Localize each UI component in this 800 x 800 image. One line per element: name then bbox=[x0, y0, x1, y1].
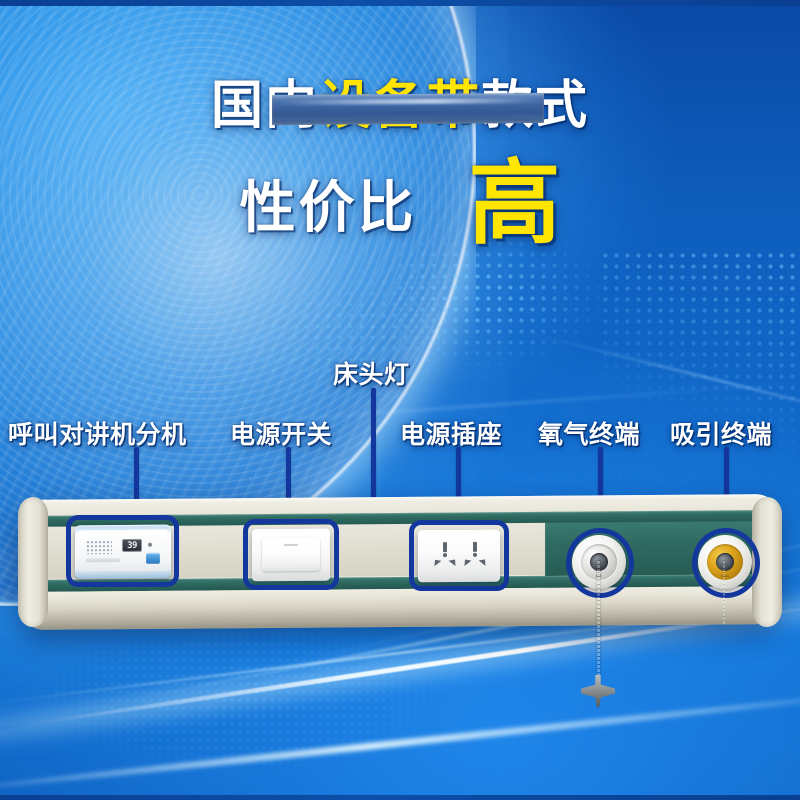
power-socket[interactable] bbox=[418, 530, 500, 583]
top-border-bar bbox=[0, 0, 800, 6]
suction-terminal-marking: VAC bbox=[698, 573, 752, 578]
intercom-faceplate: 39 bbox=[78, 530, 168, 572]
socket-outlet-left[interactable] bbox=[430, 542, 460, 570]
socket-outlet-right[interactable] bbox=[460, 542, 490, 570]
socket-slot-vertical-top bbox=[473, 542, 477, 552]
switch-marking bbox=[284, 544, 298, 546]
socket-slot-diagonal-right bbox=[448, 557, 458, 566]
intercom-call-button[interactable] bbox=[146, 553, 160, 564]
socket-slot-diagonal-left bbox=[431, 557, 441, 567]
suction-terminal[interactable]: VAC bbox=[698, 535, 752, 589]
intercom-unit[interactable]: 39 bbox=[75, 525, 171, 579]
power-switch[interactable] bbox=[252, 529, 330, 582]
product-banner: 国内设备带款式 性价比高 呼叫对讲机分机 电源开关 床头灯 电源插座 氧气终端 … bbox=[0, 0, 800, 800]
bhu-end-cap-right bbox=[752, 497, 782, 627]
socket-slot-round bbox=[473, 553, 477, 557]
socket-slot-diagonal-right bbox=[478, 557, 488, 566]
pull-cord[interactable] bbox=[597, 560, 600, 690]
socket-slot-round bbox=[443, 553, 447, 557]
intercom-display: 39 bbox=[122, 539, 142, 552]
intercom-label-slot bbox=[86, 558, 120, 562]
bedside-lamp[interactable] bbox=[272, 93, 544, 125]
intercom-led-indicator bbox=[148, 543, 152, 547]
suction-terminal-port[interactable] bbox=[716, 553, 734, 571]
socket-slot-diagonal-left bbox=[461, 557, 471, 567]
bhu-end-cap-left bbox=[18, 497, 48, 627]
lamp-highlight bbox=[280, 98, 536, 105]
switch-rocker[interactable] bbox=[262, 538, 320, 571]
socket-slot-vertical-top bbox=[443, 542, 447, 552]
halftone-dots-right bbox=[600, 250, 800, 460]
bottom-border-bar bbox=[0, 795, 800, 800]
bhu-bottom-rail bbox=[24, 586, 776, 625]
speaker-grille-icon bbox=[86, 540, 112, 554]
halftone-dots-far-left bbox=[0, 250, 230, 400]
secondary-cord bbox=[723, 560, 725, 624]
